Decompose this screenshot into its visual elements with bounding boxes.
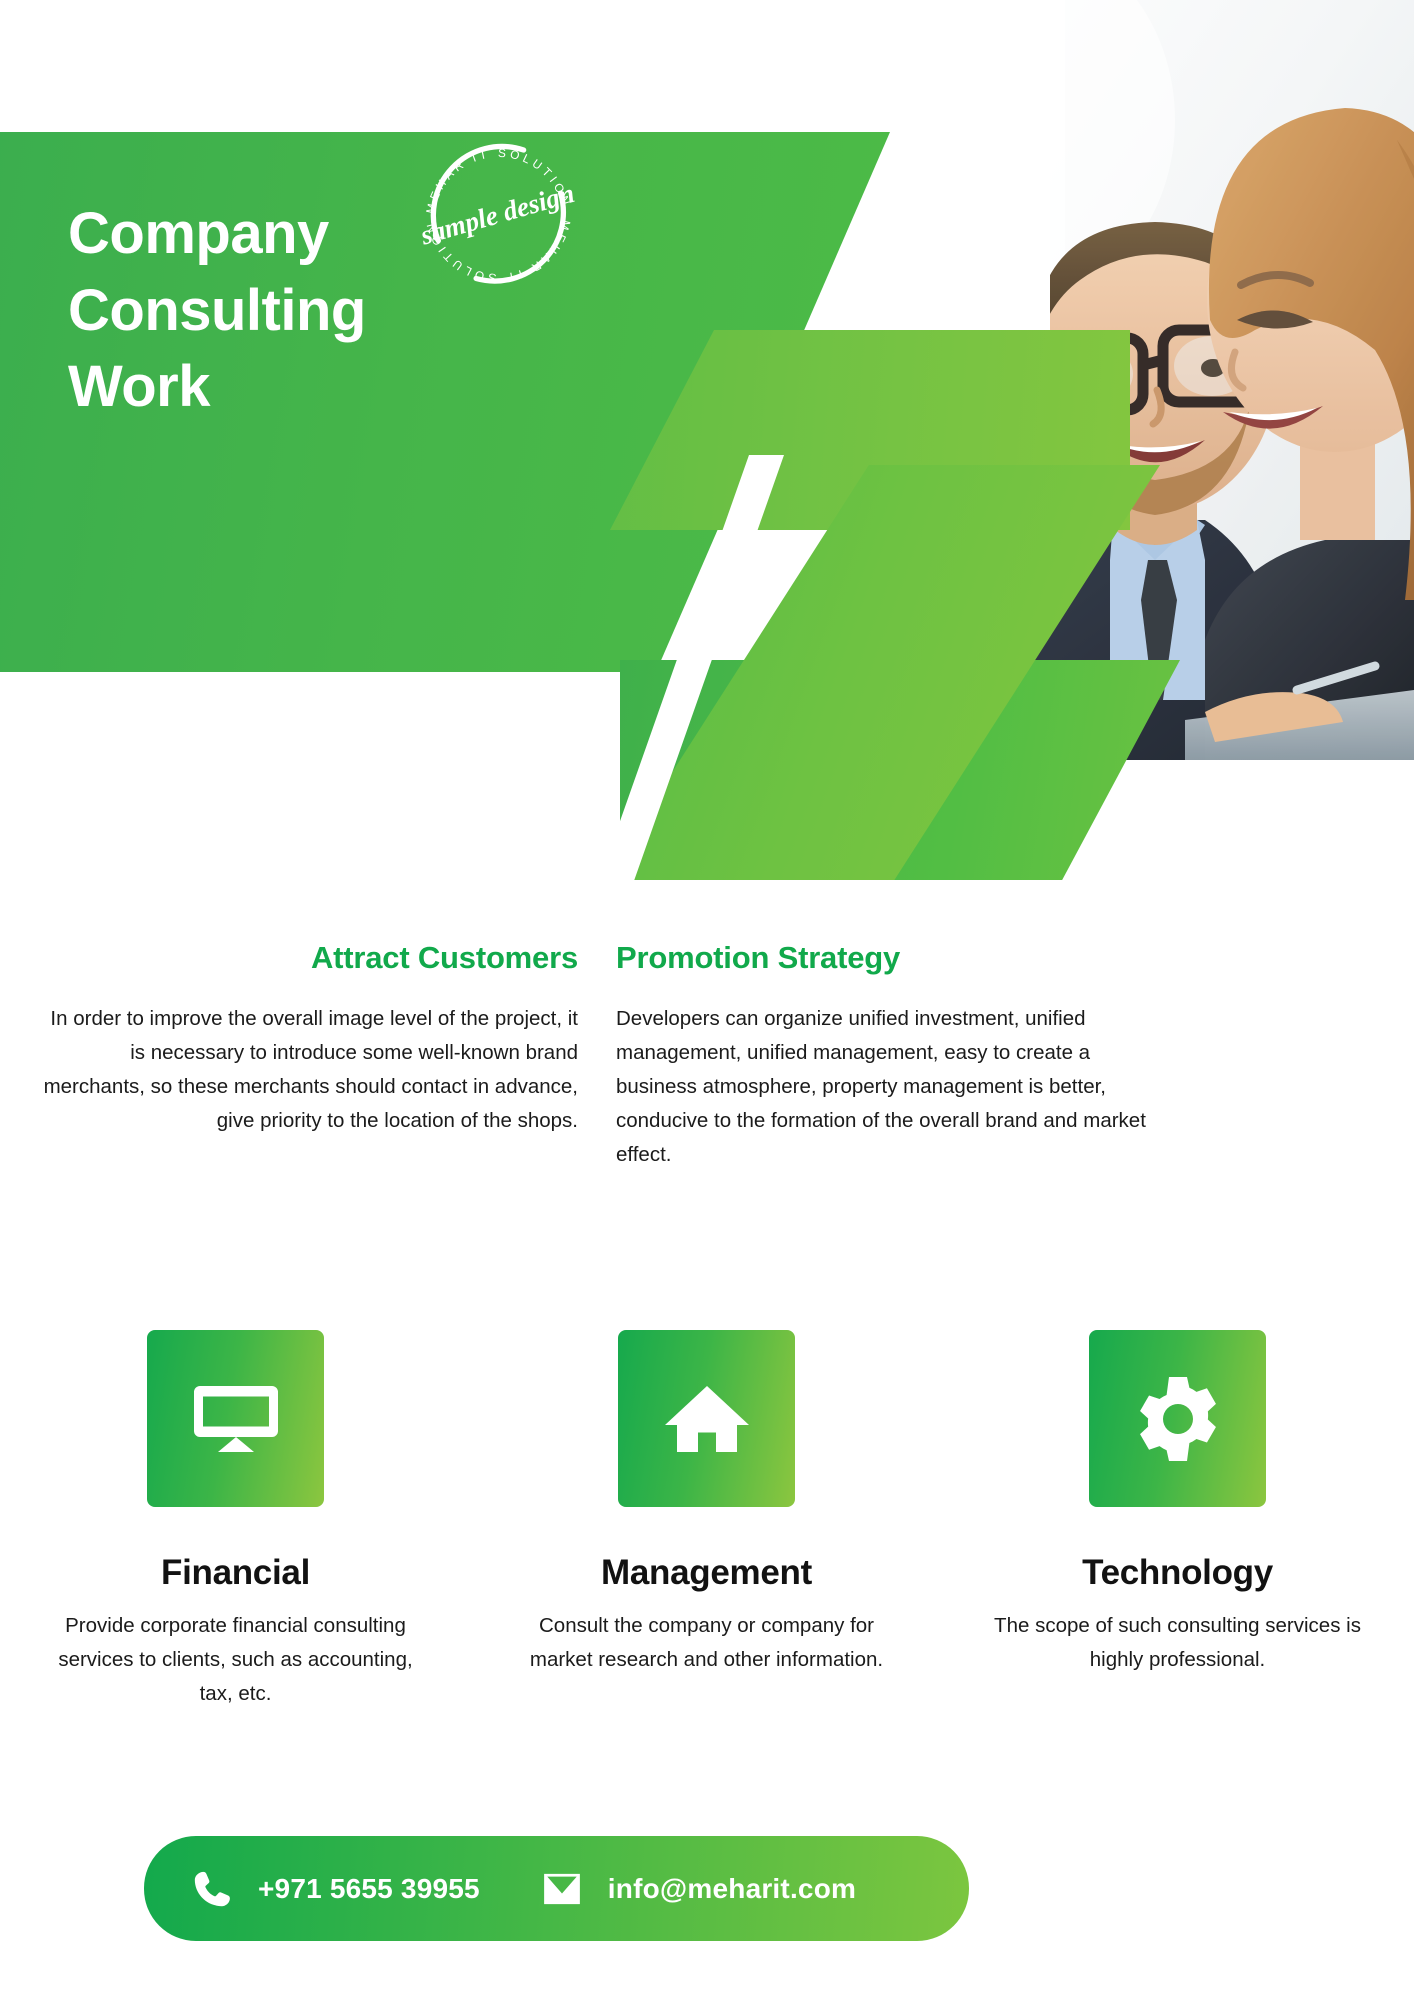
- services-row: Financial Provide corporate financial co…: [0, 1330, 1414, 1711]
- column-attract-customers: Attract Customers In order to improve th…: [38, 940, 578, 1172]
- phone-number: +971 5655 39955: [258, 1873, 480, 1905]
- hero-banner: Company Consulting Work MEHAR IT SOLUTIO…: [0, 0, 1414, 880]
- info-columns: Attract Customers In order to improve th…: [0, 940, 1414, 1172]
- monitor-icon: [188, 1371, 284, 1467]
- flyer-page: Company Consulting Work MEHAR IT SOLUTIO…: [0, 0, 1414, 2000]
- stamp-graphic: MEHAR IT SOLUTION MEHAR IT SOLUTION samp…: [406, 128, 592, 304]
- service-icon-tile: [618, 1330, 795, 1507]
- column-body: In order to improve the overall image le…: [38, 1002, 578, 1138]
- service-icon-tile: [1089, 1330, 1266, 1507]
- hero-white-wedge-upper: [860, 0, 1050, 360]
- column-body: Developers can organize unified investme…: [616, 1002, 1156, 1172]
- email-address: info@meharit.com: [608, 1873, 856, 1905]
- gear-icon: [1130, 1371, 1226, 1467]
- service-management: Management Consult the company or compan…: [471, 1330, 942, 1711]
- column-heading: Attract Customers: [38, 940, 578, 976]
- service-financial: Financial Provide corporate financial co…: [0, 1330, 471, 1711]
- service-title: Technology: [1082, 1553, 1273, 1593]
- service-icon-tile: [147, 1330, 324, 1507]
- service-description: Consult the company or company for marke…: [522, 1609, 892, 1677]
- phone-icon: [188, 1865, 236, 1913]
- home-icon: [659, 1371, 755, 1467]
- contact-phone[interactable]: +971 5655 39955: [188, 1865, 480, 1913]
- column-heading: Promotion Strategy: [616, 940, 1156, 976]
- column-promotion-strategy: Promotion Strategy Developers can organi…: [616, 940, 1156, 1172]
- contact-bar: +971 5655 39955 info@meharit.com: [144, 1836, 969, 1941]
- page-title-line-3: Work: [68, 349, 488, 426]
- service-technology: Technology The scope of such consulting …: [942, 1330, 1413, 1711]
- service-description: Provide corporate financial consulting s…: [51, 1609, 421, 1711]
- service-title: Financial: [161, 1553, 310, 1593]
- contact-email[interactable]: info@meharit.com: [538, 1865, 856, 1913]
- sample-design-stamp: MEHAR IT SOLUTION MEHAR IT SOLUTION samp…: [406, 128, 592, 304]
- service-description: The scope of such consulting services is…: [993, 1609, 1363, 1677]
- envelope-icon-glyph: [540, 1867, 584, 1911]
- service-title: Management: [601, 1553, 812, 1593]
- envelope-icon: [538, 1865, 586, 1913]
- phone-icon-glyph: [190, 1867, 234, 1911]
